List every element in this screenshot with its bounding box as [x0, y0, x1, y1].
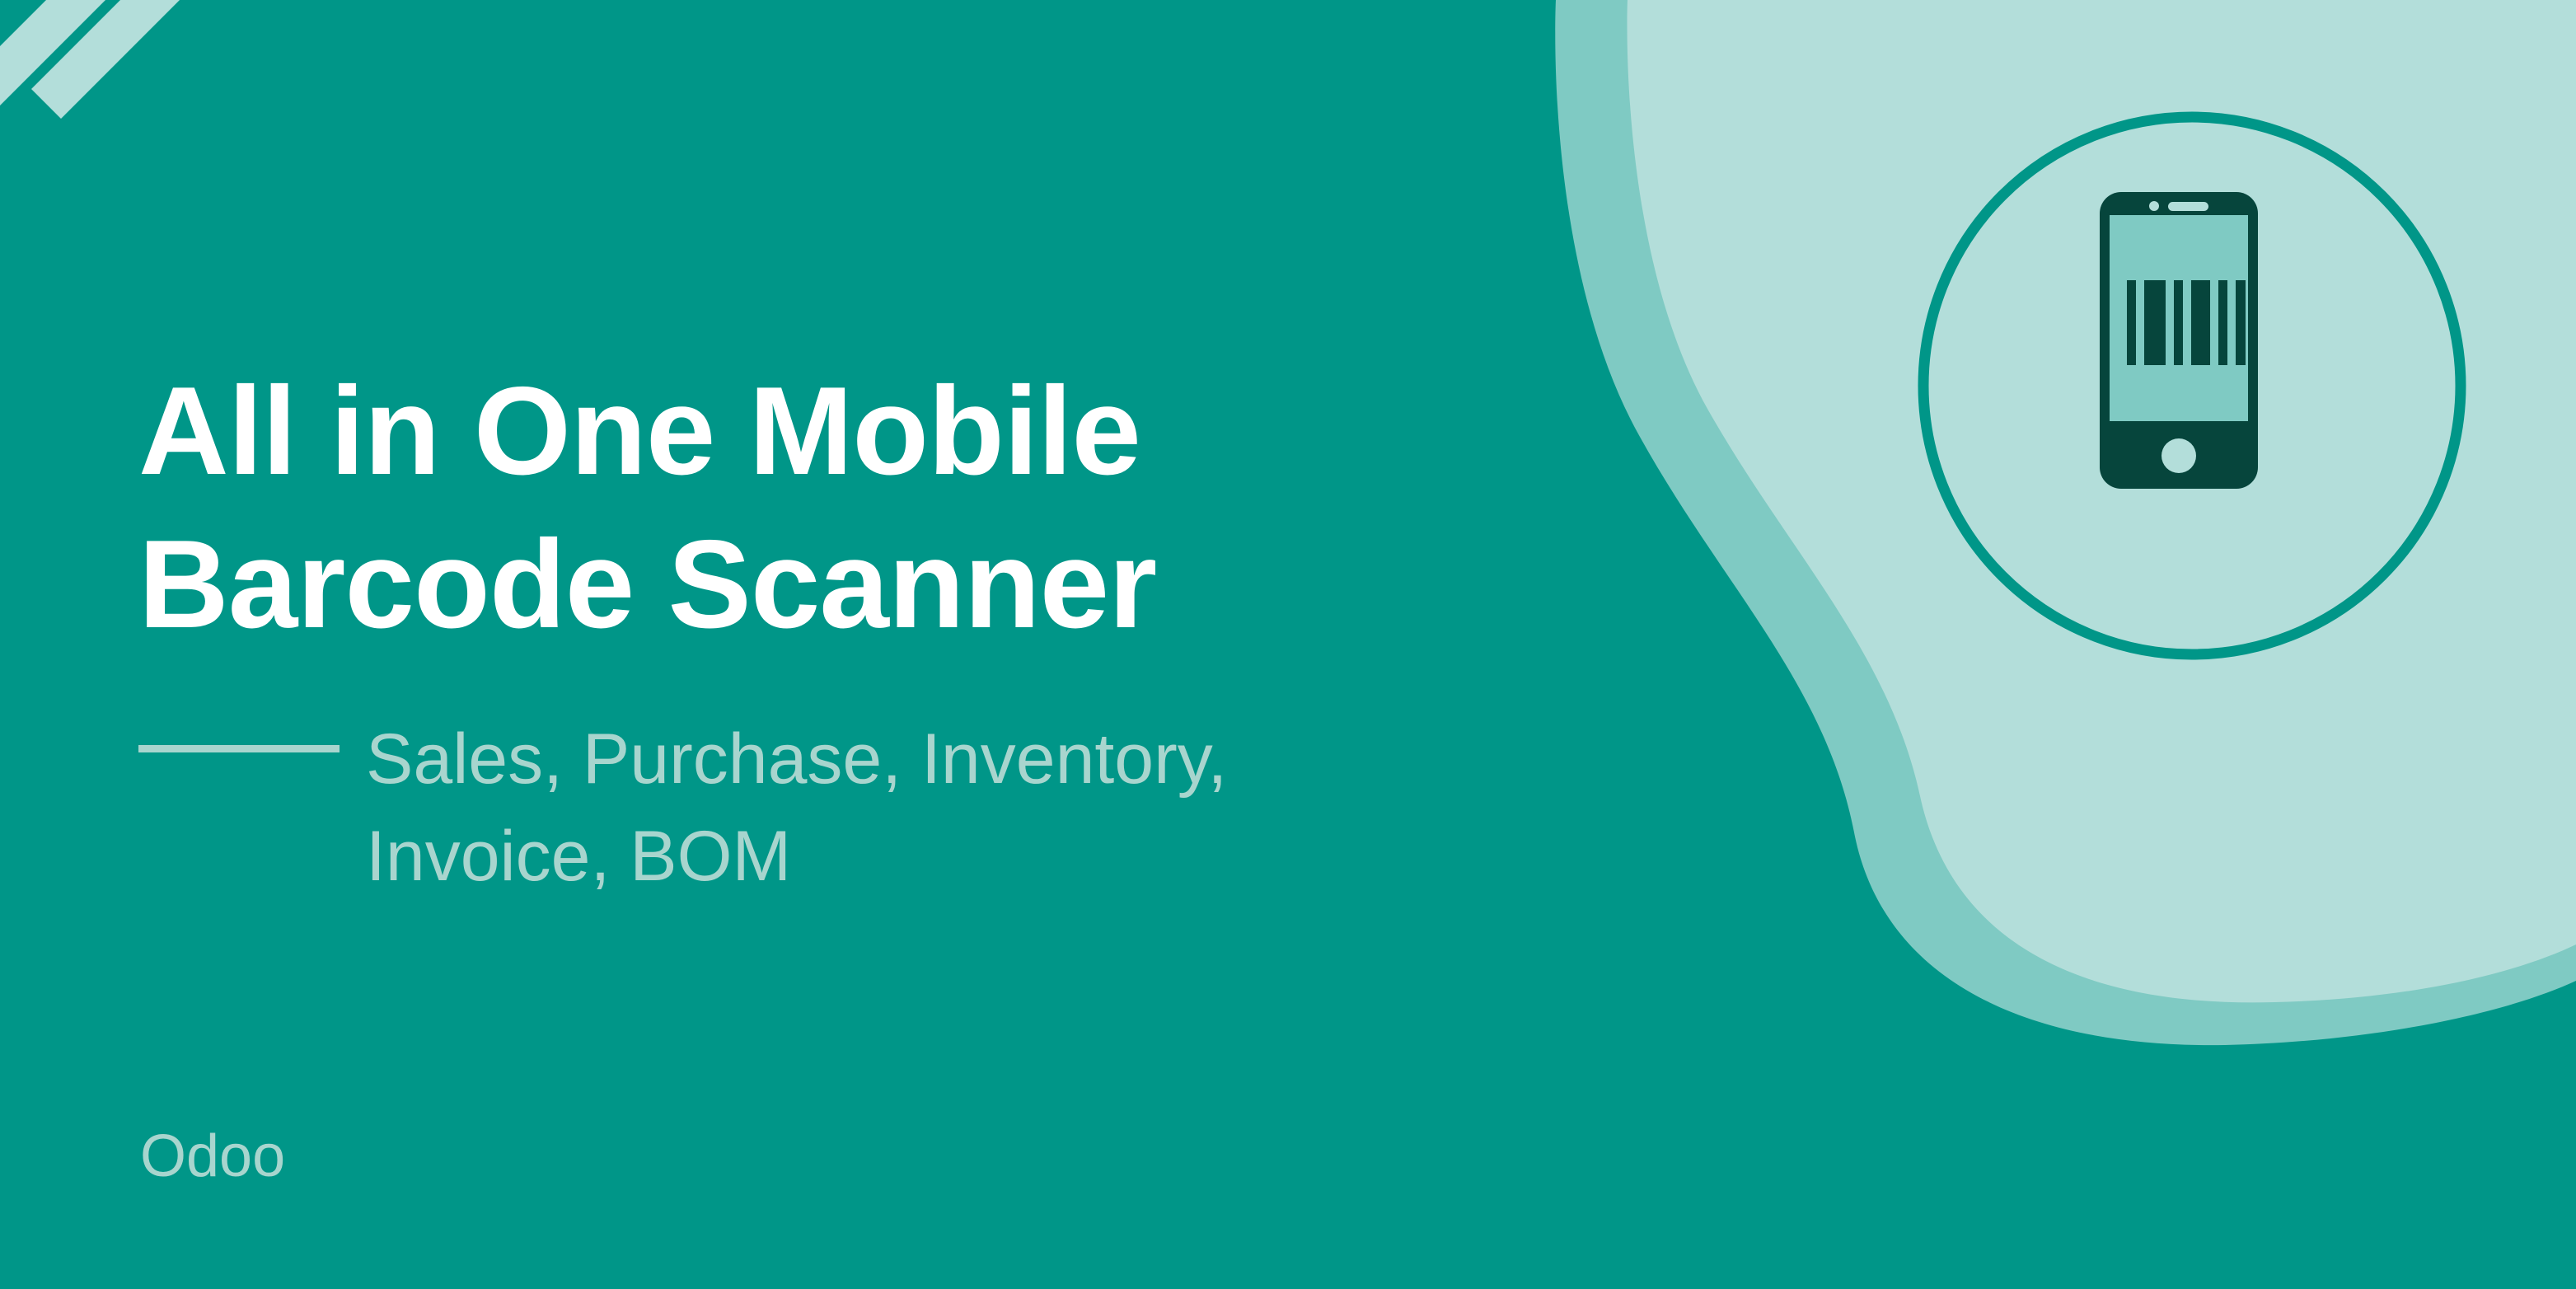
phone-camera-icon — [2149, 201, 2159, 211]
mobile-barcode-scanner-icon — [1912, 105, 2472, 666]
subtitle-divider-rule — [138, 745, 340, 752]
page-title: All in One Mobile Barcode Scanner — [138, 354, 1177, 661]
presentation-slide: All in One Mobile Barcode Scanner Sales,… — [0, 0, 2576, 1289]
brand-label: Odoo — [140, 1123, 285, 1190]
headline-block: All in One Mobile Barcode Scanner — [138, 354, 1704, 661]
phone-home-button — [2161, 438, 2196, 473]
phone-speaker-icon — [2168, 202, 2208, 211]
page-subtitle: Sales, Purchase, Inventory, Invoice, BOM — [366, 710, 1264, 905]
subtitle-block: Sales, Purchase, Inventory, Invoice, BOM — [138, 710, 1704, 905]
